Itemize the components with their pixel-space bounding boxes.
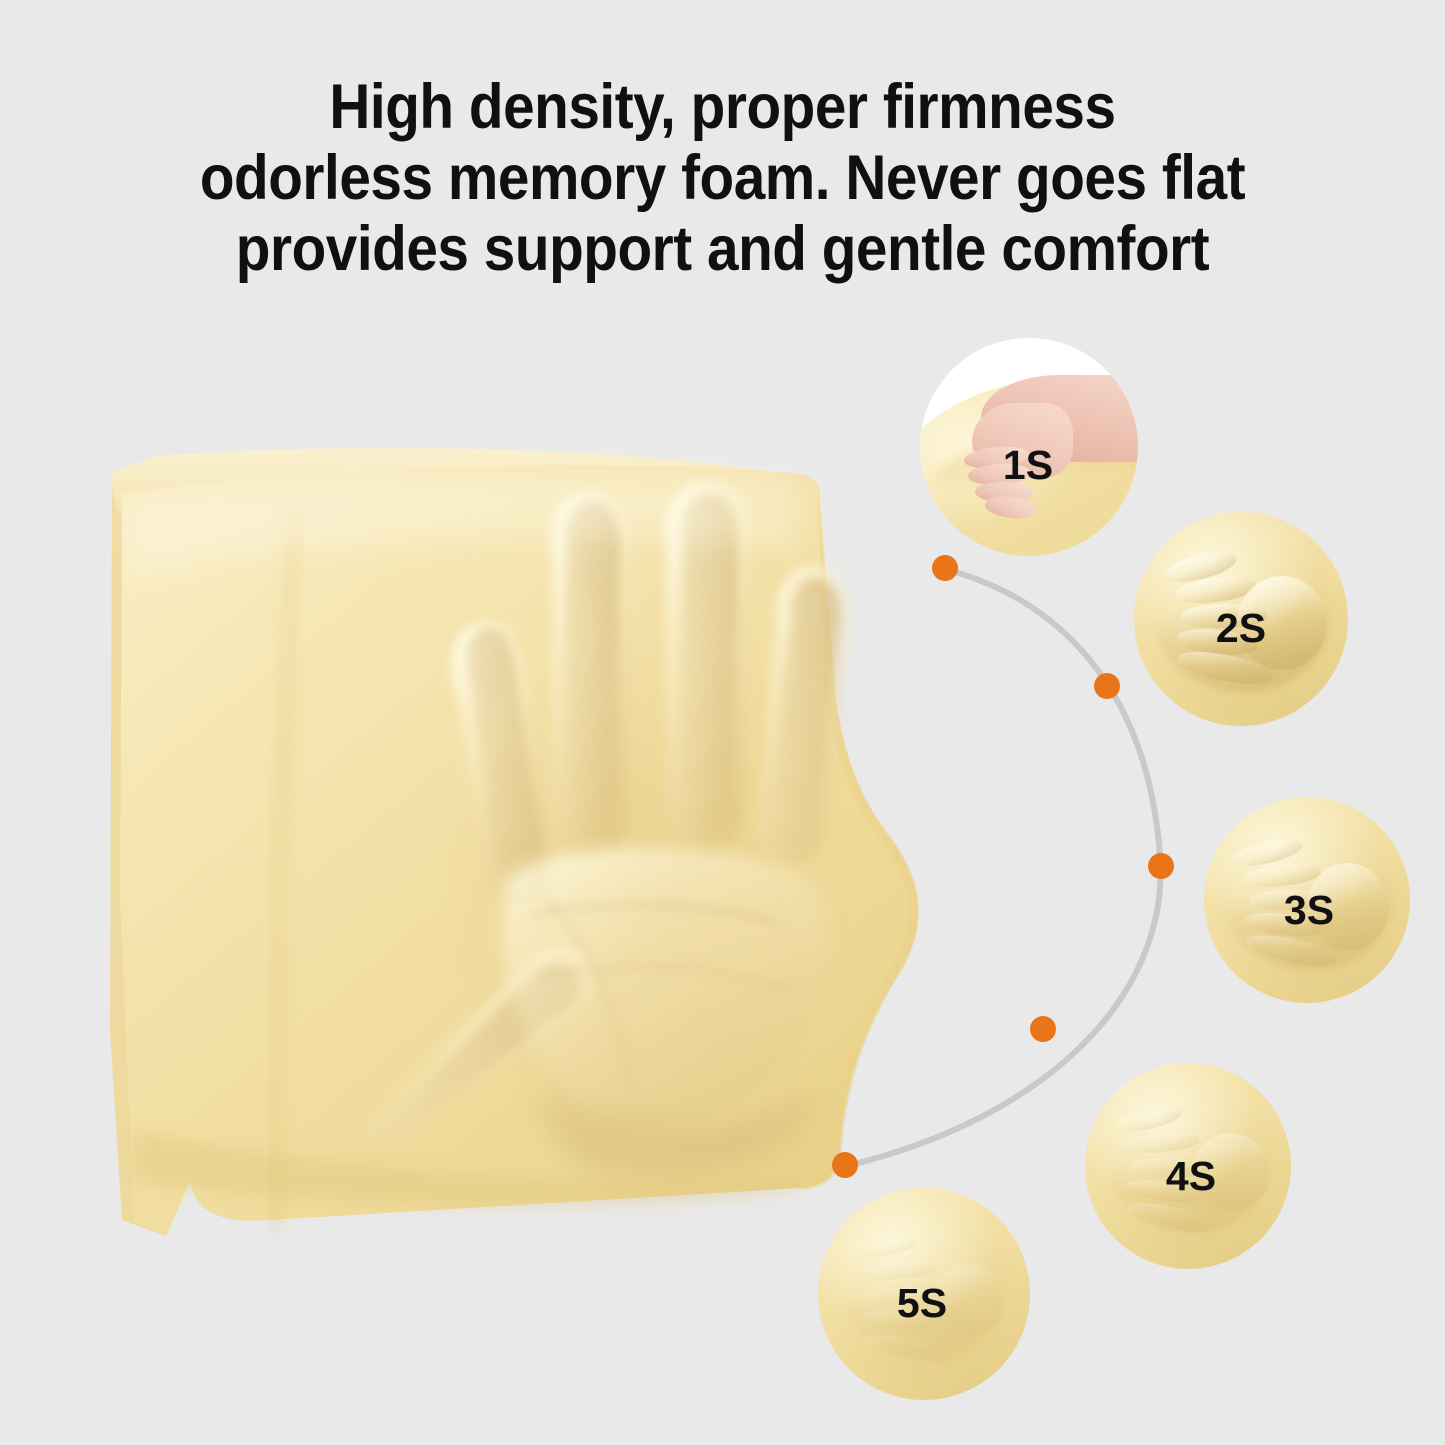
- recovery-stage-3s: 3S: [1204, 797, 1410, 1003]
- stage-label-4s: 4S: [1166, 1156, 1216, 1197]
- stage-label-5s: 5S: [897, 1283, 947, 1324]
- stage-label-1s: 1S: [1003, 445, 1053, 486]
- wedge-pillow-image: [100, 430, 930, 1260]
- timeline-dot-2: [1094, 673, 1120, 699]
- recovery-stage-1s: 1S: [920, 338, 1138, 556]
- recovery-stage-4s: 4S: [1085, 1063, 1291, 1269]
- stage-label-3s: 3S: [1284, 890, 1334, 931]
- timeline-dot-1: [932, 555, 958, 581]
- timeline-dot-3: [1148, 853, 1174, 879]
- stage-label-2s: 2S: [1216, 608, 1266, 649]
- recovery-stage-2s: 2S: [1134, 512, 1348, 726]
- recovery-stage-5s: 5S: [818, 1188, 1030, 1400]
- product-feature-image: High density, proper firmness odorless m…: [0, 0, 1445, 1445]
- timeline-dot-4: [1030, 1016, 1056, 1042]
- headline-text: High density, proper firmness odorless m…: [72, 72, 1373, 285]
